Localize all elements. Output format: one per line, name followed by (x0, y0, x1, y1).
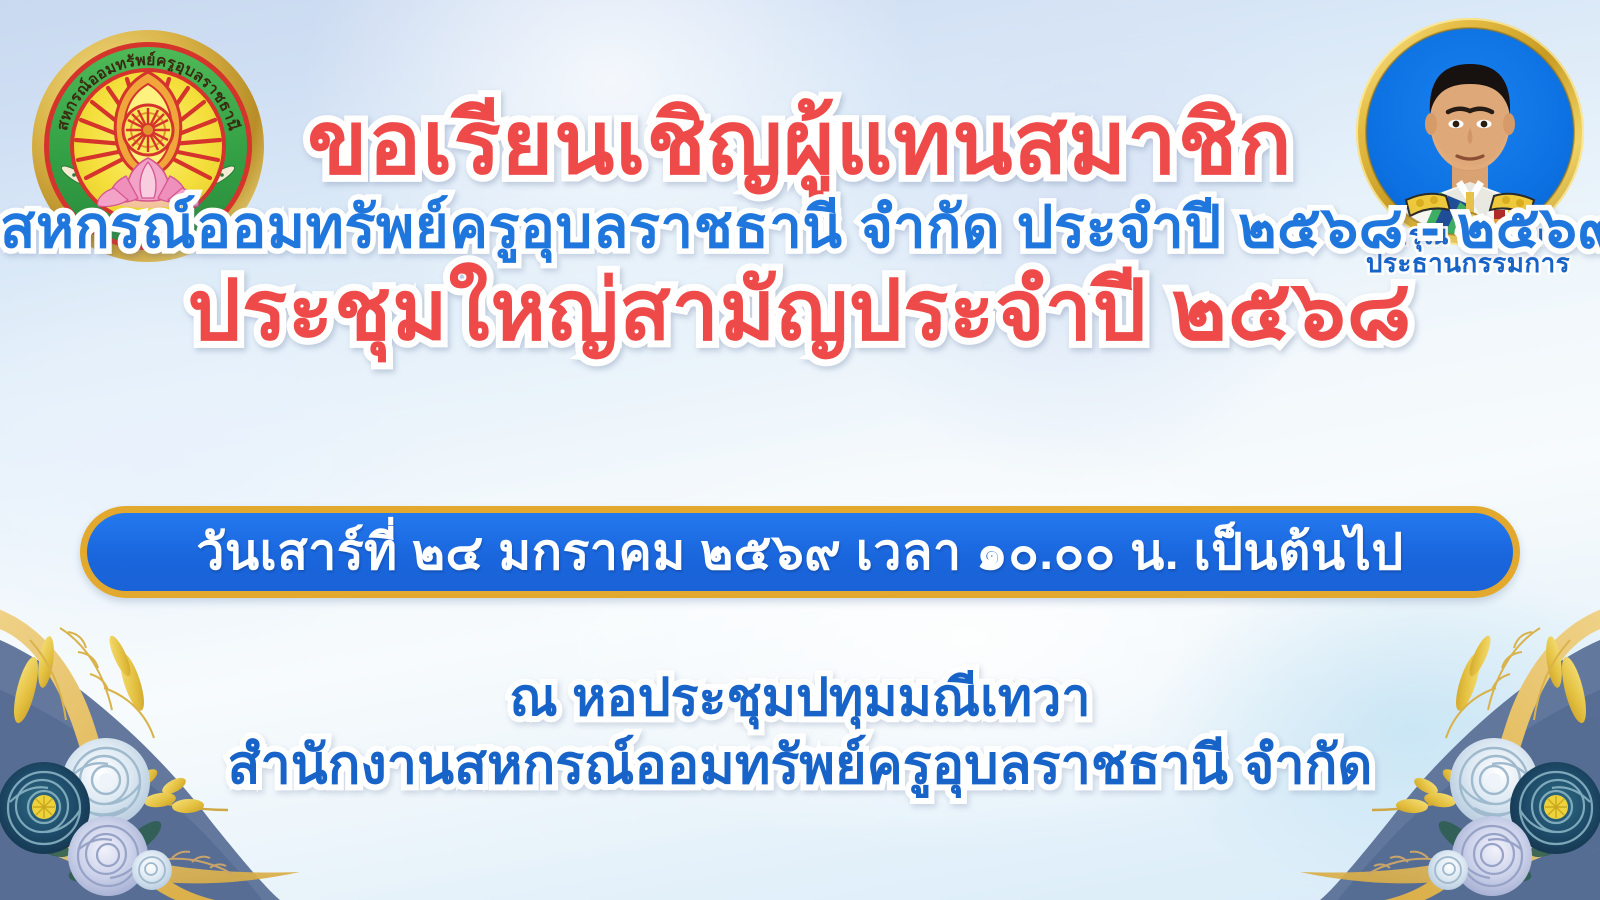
watercolor-bud (1428, 850, 1468, 890)
gold-ribbon-swoosh (52, 832, 300, 883)
meeting-invitation-banner: สหกรณ์ออมทรัพย์ครูอุบลราชธานี จำกัด (0, 0, 1600, 900)
venue-office-name: สำนักงานสหกรณ์ออมทรัพย์ครูอุบลราชธานี จำ… (0, 733, 1600, 799)
watercolor-rose-lilac (1452, 816, 1532, 896)
invitation-headline: ขอเรียนเชิญผู้แทนสมาชิก (0, 96, 1600, 189)
gold-ribbon-swoosh (1300, 832, 1548, 883)
tan-sprig (160, 852, 232, 874)
tan-sprig (1368, 852, 1440, 874)
date-time-text: วันเสาร์ที่ ๒๔ มกราคม ๒๕๖๙ เวลา ๑๐.๐๐ น.… (196, 527, 1403, 577)
meeting-title: ประชุมใหญ่สามัญประจำปี ๒๕๖๘ (0, 266, 1600, 355)
date-time-banner: วันเสาร์ที่ ๒๔ มกราคม ๒๕๖๙ เวลา ๑๐.๐๐ น.… (80, 506, 1520, 598)
venue-block: ณ หอประชุมปทุมมณีเทวา สำนักงานสหกรณ์ออมท… (0, 668, 1600, 799)
green-leaf (1434, 816, 1582, 887)
green-leaf (18, 816, 166, 887)
watercolor-rose-lilac (68, 816, 148, 896)
organization-subtitle: สหกรณ์ออมทรัพย์ครูอุบลราชธานี จำกัด ประจ… (0, 197, 1600, 260)
watercolor-bud (132, 850, 172, 890)
venue-hall-name: ณ หอประชุมปทุมมณีเทวา (0, 668, 1600, 729)
headline-block: ขอเรียนเชิญผู้แทนสมาชิก สหกรณ์ออมทรัพย์ค… (0, 96, 1600, 355)
